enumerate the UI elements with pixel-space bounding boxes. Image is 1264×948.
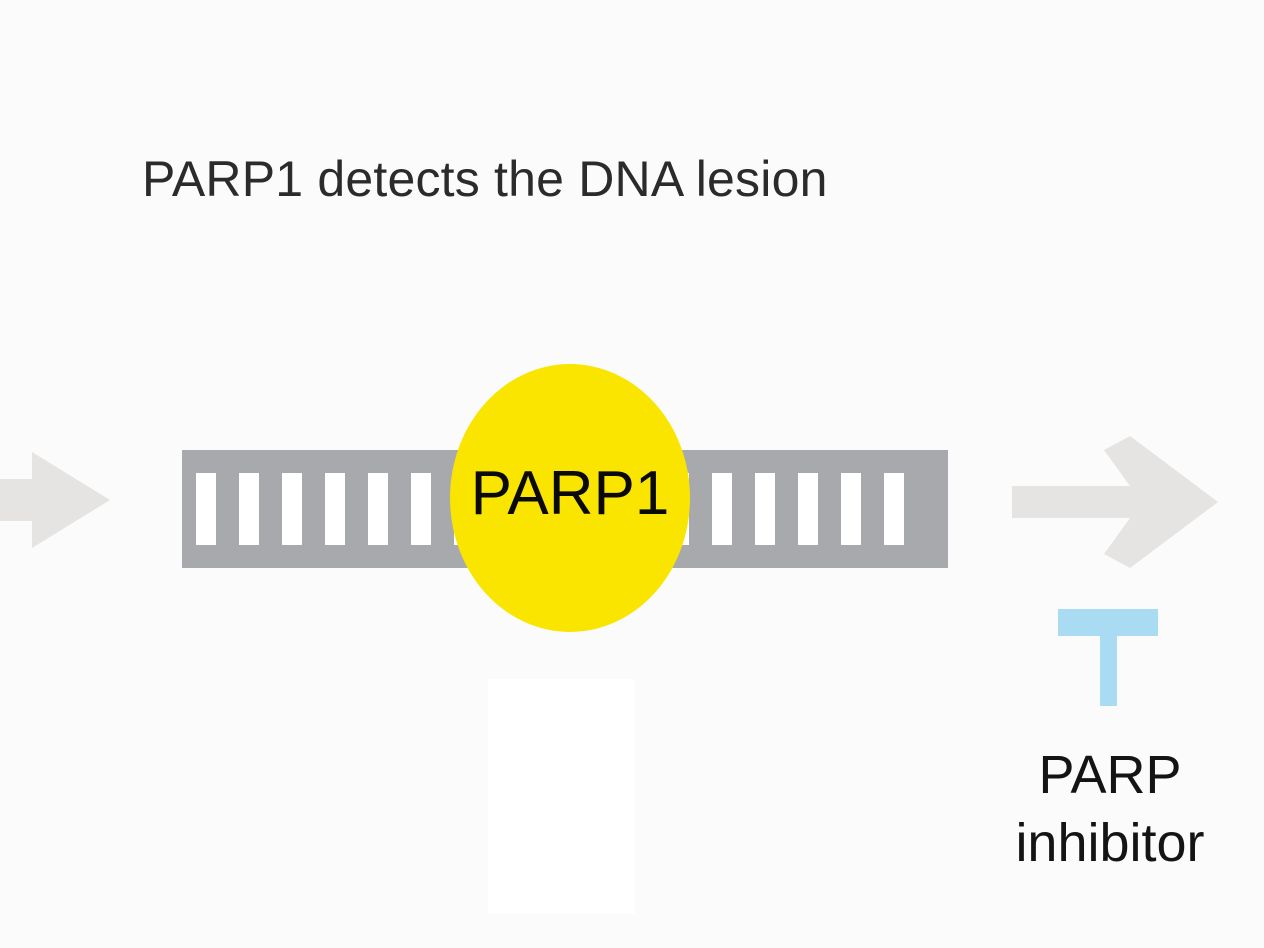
inhibitor-crossbar	[1058, 609, 1158, 636]
dna-base-gap	[798, 473, 818, 545]
dna-base-gap	[411, 473, 431, 545]
arrow-right-icon	[0, 432, 112, 568]
dna-base-gap	[841, 473, 861, 545]
parp1-label: PARP1	[471, 463, 670, 525]
inhibitor-stem	[1100, 636, 1117, 706]
dna-base-gap	[884, 473, 904, 545]
arrow-right-icon	[1012, 436, 1220, 568]
white-panel	[488, 679, 635, 914]
dna-base-gap	[239, 473, 259, 545]
dna-base-gap	[755, 473, 775, 545]
page-title: PARP1 detects the DNA lesion	[142, 148, 828, 210]
dna-base-gap	[712, 473, 732, 545]
dna-base-gap	[196, 473, 216, 545]
parp-inhibitor-caption-line2: inhibitor	[955, 809, 1264, 877]
parp-inhibitor-caption: PARP inhibitor	[955, 741, 1264, 877]
slide-canvas: PARP1 detects the DNA lesion PARP1 PARP …	[0, 0, 1264, 948]
dna-base-gap	[325, 473, 345, 545]
parp1-protein[interactable]: PARP1	[450, 364, 690, 632]
dna-base-gap	[282, 473, 302, 545]
dna-base-gap	[368, 473, 388, 545]
parp-inhibitor-caption-line1: PARP	[955, 741, 1264, 809]
